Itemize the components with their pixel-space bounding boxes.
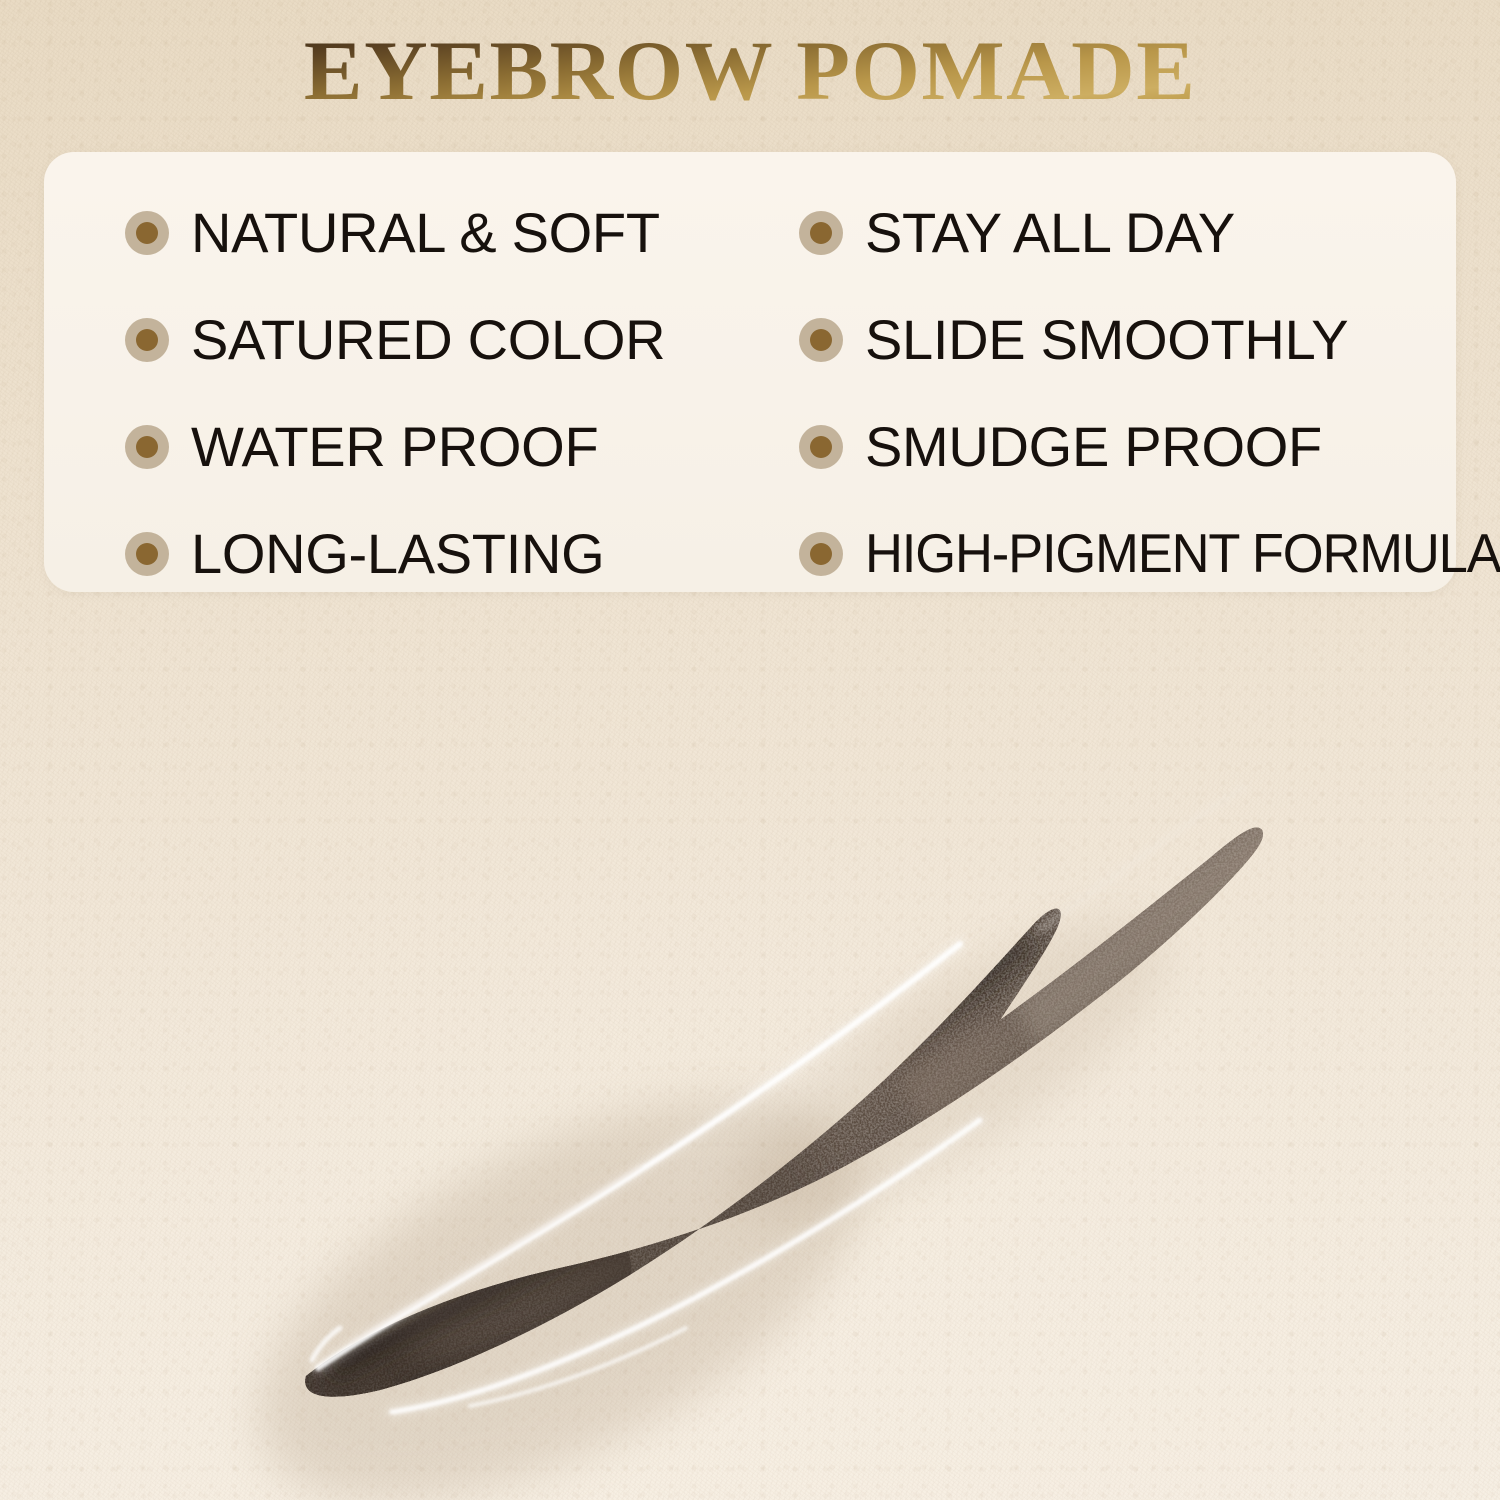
feature-item-long-lasting: LONG-LASTING xyxy=(44,500,734,607)
pomade-smear xyxy=(0,600,1500,1500)
feature-label: STAY ALL DAY xyxy=(865,205,1235,261)
bullet-dot-icon xyxy=(799,425,843,469)
feature-item-stay-all-day: STAY ALL DAY xyxy=(734,179,1456,286)
bullet-dot-icon xyxy=(125,425,169,469)
feature-card: NATURAL & SOFT STAY ALL DAY SATURED COLO… xyxy=(44,152,1456,592)
feature-label: LONG-LASTING xyxy=(191,526,604,582)
feature-list: NATURAL & SOFT STAY ALL DAY SATURED COLO… xyxy=(44,168,1456,607)
bullet-dot-icon xyxy=(125,532,169,576)
feature-item-satured-color: SATURED COLOR xyxy=(44,286,734,393)
bullet-dot-icon xyxy=(799,532,843,576)
feature-label: SMUDGE PROOF xyxy=(865,419,1322,475)
bullet-dot-icon xyxy=(125,318,169,362)
swatch-shadow xyxy=(198,870,1205,1500)
feature-label: HIGH-PIGMENT FORMULA xyxy=(865,526,1500,581)
feature-item-smudge-proof: SMUDGE PROOF xyxy=(734,393,1456,500)
page-title: EYEBROW POMADE xyxy=(0,26,1500,116)
feature-item-water-proof: WATER PROOF xyxy=(44,393,734,500)
product-swatch-image xyxy=(0,600,1500,1500)
page-title-text: EYEBROW POMADE xyxy=(304,26,1197,116)
bullet-dot-icon xyxy=(125,211,169,255)
feature-item-high-pigment-formula: HIGH-PIGMENT FORMULA xyxy=(734,500,1456,607)
feature-label: NATURAL & SOFT xyxy=(191,205,660,261)
feature-label: SATURED COLOR xyxy=(191,312,665,368)
bullet-dot-icon xyxy=(799,211,843,255)
pomade-swatch-graphic xyxy=(0,600,1500,1500)
feature-item-natural-and-soft: NATURAL & SOFT xyxy=(44,179,734,286)
feature-label: WATER PROOF xyxy=(191,419,598,475)
feature-item-slide-smoothly: SLIDE SMOOTHLY xyxy=(734,286,1456,393)
feature-label: SLIDE SMOOTHLY xyxy=(865,312,1348,368)
bullet-dot-icon xyxy=(799,318,843,362)
